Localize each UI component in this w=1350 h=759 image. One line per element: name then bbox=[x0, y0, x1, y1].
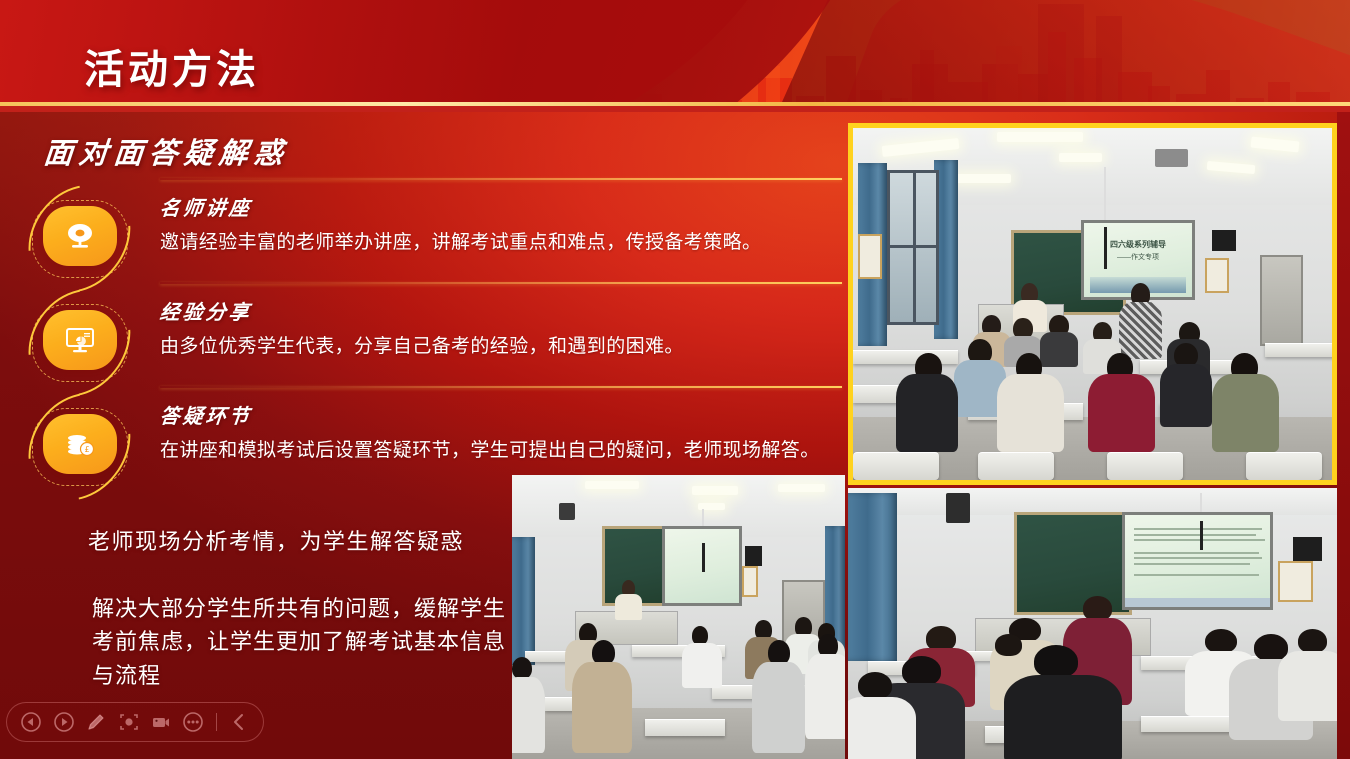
header-under-bar bbox=[0, 106, 1350, 112]
slide-header-banner: 活动方法 bbox=[0, 0, 1350, 112]
item-description: 邀请经验丰富的老师举办讲座，讲解考试重点和难点，传授备考策略。 bbox=[160, 228, 761, 259]
toolbar-divider bbox=[216, 713, 217, 731]
pen-tool-button[interactable] bbox=[82, 707, 110, 737]
item-icon-wrap: £ bbox=[0, 398, 160, 490]
list-item: 名师讲座 邀请经验丰富的老师举办讲座，讲解考试重点和难点，传授备考策略。 bbox=[0, 178, 850, 282]
previous-slide-button[interactable] bbox=[17, 707, 45, 737]
presentation-toolbar bbox=[6, 702, 264, 742]
projected-title-line1: 四六级系列辅导 bbox=[1084, 239, 1193, 250]
classroom-discussion-photo bbox=[848, 488, 1337, 759]
item-title: 经验分享 bbox=[158, 296, 253, 325]
list-item: 经验分享 由多位优秀学生代表，分享自己备考的经验，和遇到的困难。 bbox=[0, 282, 850, 386]
item-description: 在讲座和模拟考试后设置答疑环节，学生可提出自己的疑问，老师现场解答。 bbox=[160, 436, 820, 467]
next-slide-button[interactable] bbox=[49, 707, 77, 737]
method-list: 名师讲座 邀请经验丰富的老师举办讲座，讲解考试重点和难点，传授备考策略。 bbox=[0, 178, 850, 490]
item-text: 名师讲座 邀请经验丰富的老师举办讲座，讲解考试重点和难点，传授备考策略。 bbox=[160, 190, 777, 259]
item-icon-wrap bbox=[0, 294, 160, 386]
section-title: 面对面答疑解惑 bbox=[42, 130, 291, 172]
item-icon-wrap bbox=[0, 190, 160, 282]
page-title: 活动方法 bbox=[84, 37, 260, 95]
laser-focus-button[interactable] bbox=[114, 707, 142, 737]
list-item: £ 答疑环节 在讲座和模拟考试后设置答疑环节，学生可提出自己的疑问，老师现场解答… bbox=[0, 386, 850, 490]
coins-stack-icon: £ bbox=[43, 414, 117, 474]
item-text: 经验分享 由多位优秀学生代表，分享自己备考的经验，和遇到的困难。 bbox=[160, 294, 700, 363]
classroom-teacher-photo bbox=[512, 475, 845, 759]
item-text: 答疑环节 在讲座和模拟考试后设置答疑环节，学生可提出自己的疑问，老师现场解答。 bbox=[160, 398, 836, 467]
right-edge-strip bbox=[1337, 112, 1350, 759]
item-title: 名师讲座 bbox=[158, 192, 253, 221]
pie-disc-icon bbox=[43, 206, 117, 266]
collapse-toolbar-button[interactable] bbox=[225, 707, 253, 737]
monitor-chart-icon bbox=[43, 310, 117, 370]
projected-title-line2: ——作文专项 bbox=[1084, 252, 1193, 262]
screen-record-button[interactable] bbox=[147, 707, 175, 737]
item-description: 由多位优秀学生代表，分享自己备考的经验，和遇到的困难。 bbox=[160, 332, 684, 363]
classroom-lecture-photo: 四六级系列辅导 ——作文专项 bbox=[848, 123, 1337, 485]
more-options-button[interactable] bbox=[179, 707, 207, 737]
item-title: 答疑环节 bbox=[158, 400, 253, 429]
svg-text:£: £ bbox=[84, 445, 89, 454]
bottom-summary-text: 解决大部分学生所共有的问题，缓解学生考前焦虑，让学生更加了解考试基本信息与流程 bbox=[92, 592, 512, 692]
slide-root: 活动方法 面对面答疑解惑 bbox=[0, 0, 1350, 759]
bottom-highlight-text: 老师现场分析考情，为学生解答疑惑 bbox=[88, 524, 464, 556]
